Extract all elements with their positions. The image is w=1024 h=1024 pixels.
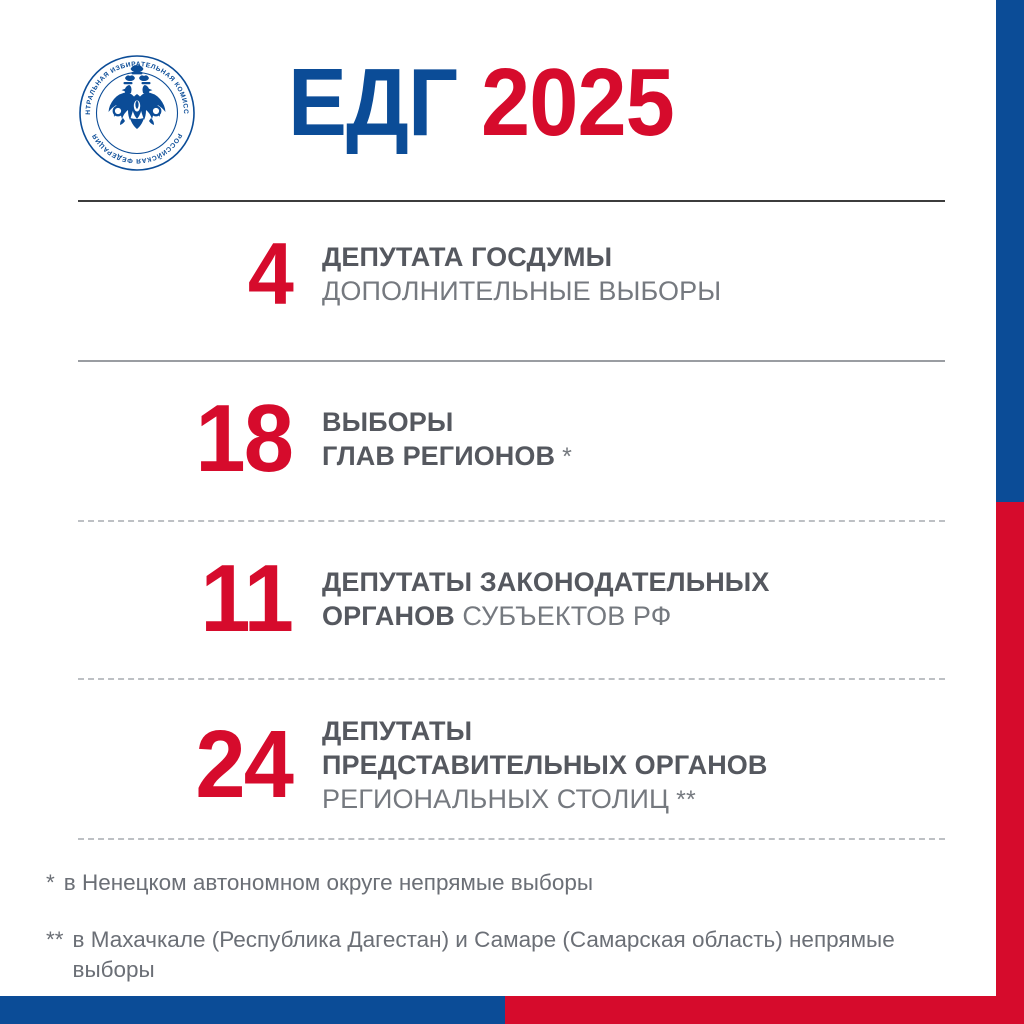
stat-label-line: ДЕПУТАТЫ ЗАКОНОДАТЕЛЬНЫХ <box>322 565 958 599</box>
right-flag-bar-red <box>996 502 1024 1024</box>
poster-canvas: · ЦЕНТРАЛЬНАЯ ИЗБИРАТЕЛЬНАЯ КОМИССИЯ · Р… <box>0 0 1024 1024</box>
stat-labels: ДЕПУТАТЫ ПРЕДСТАВИТЕЛЬНЫХ ОРГАНОВ РЕГИОН… <box>292 714 958 817</box>
stat-label-text: РЕГИОНАЛЬНЫХ СТОЛИЦ <box>322 784 669 814</box>
footnote-text: в Махачкале (Республика Дагестан) и Сама… <box>73 925 926 984</box>
divider-after-row-1 <box>78 360 945 362</box>
stat-label-line: ДЕПУТАТЫ <box>322 714 958 748</box>
stat-row: 18 ВЫБОРЫ ГЛАВ РЕГИОНОВ * <box>78 396 958 482</box>
footnote-marker: ** <box>46 925 73 954</box>
title-secondary: 2025 <box>481 55 674 151</box>
bottom-flag-bar <box>0 996 1024 1024</box>
footnote-marker: * <box>555 443 572 471</box>
stat-labels: ДЕПУТАТА ГОСДУМЫ ДОПОЛНИТЕЛЬНЫЕ ВЫБОРЫ <box>292 240 958 308</box>
footnotes: * в Ненецком автономном округе непрямые … <box>46 868 926 984</box>
bottom-flag-bar-blue <box>0 996 505 1024</box>
stat-label-line: ВЫБОРЫ <box>322 405 958 439</box>
footnote-text: в Ненецком автономном округе непрямые вы… <box>64 868 926 897</box>
stat-number: 24 <box>91 722 292 808</box>
stat-row: 11 ДЕПУТАТЫ ЗАКОНОДАТЕЛЬНЫХ ОРГАНОВ СУБЪ… <box>78 556 958 642</box>
stat-number: 11 <box>91 556 292 642</box>
footnote-item: ** в Махачкале (Республика Дагестан) и С… <box>46 925 926 984</box>
divider-after-row-3 <box>78 678 945 680</box>
stat-row: 4 ДЕПУТАТА ГОСДУМЫ ДОПОЛНИТЕЛЬНЫЕ ВЫБОРЫ <box>78 234 958 313</box>
divider-top <box>78 200 945 202</box>
stat-label-line: РЕГИОНАЛЬНЫХ СТОЛИЦ ** <box>322 782 958 817</box>
stat-label-tail: СУБЪЕКТОВ РФ <box>455 601 672 631</box>
stat-label-line: ДОПОЛНИТЕЛЬНЫЕ ВЫБОРЫ <box>322 274 958 308</box>
stat-label-line: ДЕПУТАТА ГОСДУМЫ <box>322 240 958 274</box>
stat-labels: ВЫБОРЫ ГЛАВ РЕГИОНОВ * <box>292 405 958 474</box>
bottom-flag-bar-red <box>505 996 1024 1024</box>
header: · ЦЕНТРАЛЬНАЯ ИЗБИРАТЕЛЬНАЯ КОМИССИЯ · Р… <box>0 0 996 200</box>
page-title: ЕДГ 2025 <box>288 48 674 158</box>
logo-ring-text-top: ЦЕНТРАЛЬНАЯ ИЗБИРАТЕЛЬНАЯ КОМИССИЯ <box>76 174 77 175</box>
divider-after-row-2 <box>78 520 945 522</box>
title-primary: ЕДГ <box>288 55 457 151</box>
footnote-item: * в Ненецком автономном округе непрямые … <box>46 868 926 897</box>
stat-label-text: ОРГАНОВ <box>322 601 455 631</box>
stat-number: 4 <box>91 234 292 313</box>
divider-after-row-4 <box>78 838 945 840</box>
right-flag-bar-blue <box>996 0 1024 502</box>
right-flag-bar <box>996 0 1024 1024</box>
stat-label-line: ГЛАВ РЕГИОНОВ * <box>322 439 958 474</box>
stat-label-line: ОРГАНОВ СУБЪЕКТОВ РФ <box>322 599 958 633</box>
stat-row: 24 ДЕПУТАТЫ ПРЕДСТАВИТЕЛЬНЫХ ОРГАНОВ РЕГ… <box>78 714 958 817</box>
stat-label-text: ГЛАВ РЕГИОНОВ <box>322 441 555 471</box>
footnote-marker: * <box>46 868 64 897</box>
stat-labels: ДЕПУТАТЫ ЗАКОНОДАТЕЛЬНЫХ ОРГАНОВ СУБЪЕКТ… <box>292 565 958 633</box>
stat-number: 18 <box>91 396 292 482</box>
cik-rf-emblem-icon: · ЦЕНТРАЛЬНАЯ ИЗБИРАТЕЛЬНАЯ КОМИССИЯ · Р… <box>76 52 198 174</box>
stat-label-line: ПРЕДСТАВИТЕЛЬНЫХ ОРГАНОВ <box>322 748 958 782</box>
footnote-marker: ** <box>669 786 696 814</box>
logo-ring-text-bottom: РОССИЙСКАЯ ФЕДЕРАЦИЯ <box>76 174 77 175</box>
